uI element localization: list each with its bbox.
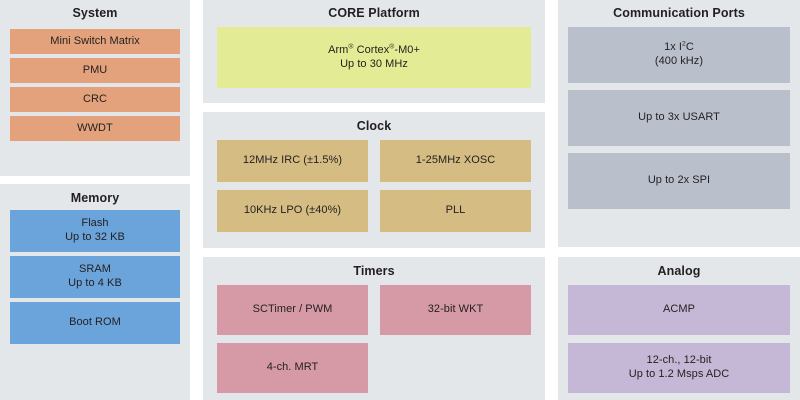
block-mini-switch-matrix[interactable]: Mini Switch Matrix — [10, 29, 180, 54]
block-label: 32-bit WKT — [428, 303, 484, 317]
block-acmp[interactable]: ACMP — [568, 285, 790, 335]
block-label: Up to 2x SPI — [648, 174, 710, 188]
panel-title-clock: Clock — [203, 120, 545, 133]
block-arm-cortex-m0plus[interactable]: Arm® Cortex®-M0+Up to 30 MHz — [217, 27, 531, 88]
block-32bit-wkt[interactable]: 32-bit WKT — [380, 285, 531, 335]
panel-title-analog: Analog — [558, 265, 800, 278]
block-label: 12-ch., 12-bit Up to 1.2 Msps ADC — [629, 354, 730, 382]
panel-core-platform: CORE Platform Arm® Cortex®-M0+Up to 30 M… — [203, 0, 545, 103]
panel-system: System Mini Switch Matrix PMU CRC WWDT — [0, 0, 190, 176]
block-label: ACMP — [663, 303, 695, 317]
block-label: Boot ROM — [69, 316, 121, 330]
block-label: 10KHz LPO (±40%) — [244, 204, 341, 218]
block-adc[interactable]: 12-ch., 12-bit Up to 1.2 Msps ADC — [568, 343, 790, 393]
block-flash[interactable]: Flash Up to 32 KB — [10, 210, 180, 252]
block-label: 1x I2C(400 kHz) — [655, 41, 703, 69]
panel-title-communication-ports: Communication Ports — [558, 7, 800, 20]
block-i2c[interactable]: 1x I2C(400 kHz) — [568, 27, 790, 83]
block-label: Mini Switch Matrix — [50, 35, 140, 49]
block-label: CRC — [83, 93, 107, 107]
panel-title-core-platform: CORE Platform — [203, 7, 545, 20]
block-sctimer-pwm[interactable]: SCTimer / PWM — [217, 285, 368, 335]
panel-timers: Timers SCTimer / PWM 32-bit WKT 4-ch. MR… — [203, 257, 545, 400]
block-label: PLL — [446, 204, 466, 218]
block-label: Flash Up to 32 KB — [65, 217, 125, 245]
panel-analog: Analog ACMP 12-ch., 12-bit Up to 1.2 Msp… — [558, 257, 800, 400]
block-label: 1-25MHz XOSC — [416, 154, 495, 168]
panel-title-memory: Memory — [0, 192, 190, 205]
panel-memory: Memory Flash Up to 32 KB SRAM Up to 4 KB… — [0, 184, 190, 400]
block-sram[interactable]: SRAM Up to 4 KB — [10, 256, 180, 298]
block-label: WWDT — [77, 122, 113, 136]
panel-title-timers: Timers — [203, 265, 545, 278]
panel-title-system: System — [0, 7, 190, 20]
block-boot-rom[interactable]: Boot ROM — [10, 302, 180, 344]
block-4ch-mrt[interactable]: 4-ch. MRT — [217, 343, 368, 393]
block-label: 12MHz IRC (±1.5%) — [243, 154, 342, 168]
block-10khz-lpo[interactable]: 10KHz LPO (±40%) — [217, 190, 368, 232]
block-label: Arm® Cortex®-M0+Up to 30 MHz — [328, 44, 420, 72]
block-12mhz-irc[interactable]: 12MHz IRC (±1.5%) — [217, 140, 368, 182]
block-wwdt[interactable]: WWDT — [10, 116, 180, 141]
block-xosc[interactable]: 1-25MHz XOSC — [380, 140, 531, 182]
mcu-block-diagram: System Mini Switch Matrix PMU CRC WWDT M… — [0, 0, 800, 400]
block-usart[interactable]: Up to 3x USART — [568, 90, 790, 146]
block-label: PMU — [83, 64, 108, 78]
panel-communication-ports: Communication Ports 1x I2C(400 kHz) Up t… — [558, 0, 800, 247]
block-label: SRAM Up to 4 KB — [68, 263, 122, 291]
block-spi[interactable]: Up to 2x SPI — [568, 153, 790, 209]
block-label: Up to 3x USART — [638, 111, 720, 125]
panel-clock: Clock 12MHz IRC (±1.5%) 1-25MHz XOSC 10K… — [203, 112, 545, 248]
block-pmu[interactable]: PMU — [10, 58, 180, 83]
block-pll[interactable]: PLL — [380, 190, 531, 232]
block-crc[interactable]: CRC — [10, 87, 180, 112]
block-label: 4-ch. MRT — [267, 361, 319, 375]
block-label: SCTimer / PWM — [253, 303, 333, 317]
